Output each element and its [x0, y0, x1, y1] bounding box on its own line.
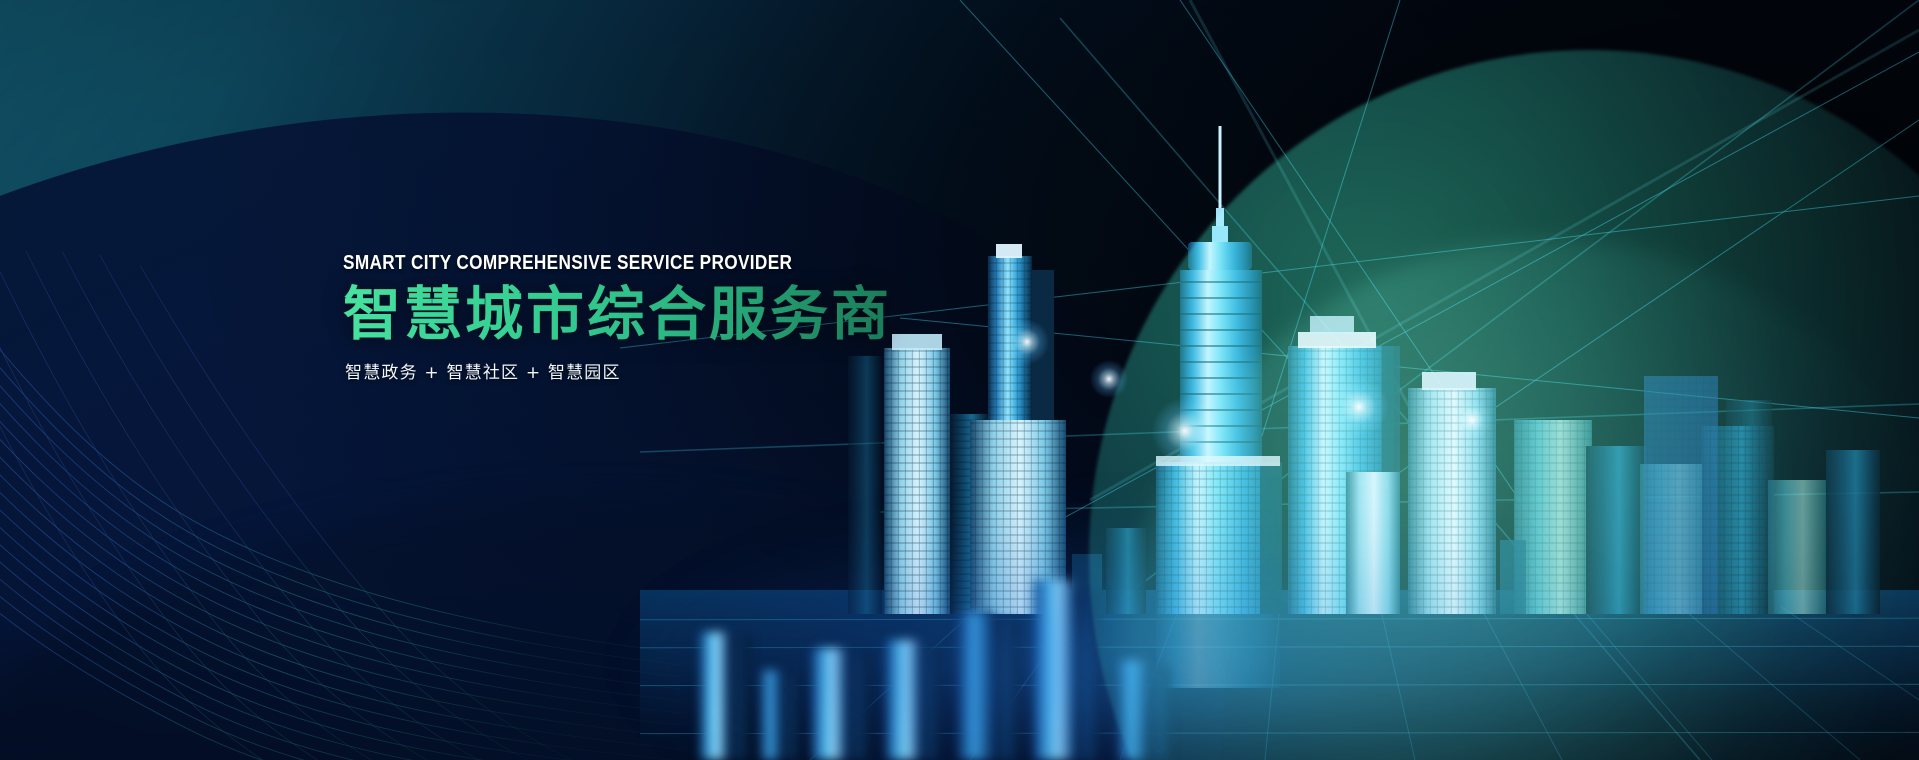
hero-subline: 智慧政务 + 智慧社区 + 智慧园区: [345, 358, 892, 383]
vignette: [0, 0, 1919, 760]
banner-hero: SMART CITY COMPREHENSIVE SERVICE PROVIDE…: [0, 0, 1919, 760]
hero-eyebrow: SMART CITY COMPREHENSIVE SERVICE PROVIDE…: [343, 252, 815, 275]
hero-headline: 智慧城市综合服务商: [343, 283, 892, 346]
hero-copy-block: SMART CITY COMPREHENSIVE SERVICE PROVIDE…: [343, 252, 892, 383]
